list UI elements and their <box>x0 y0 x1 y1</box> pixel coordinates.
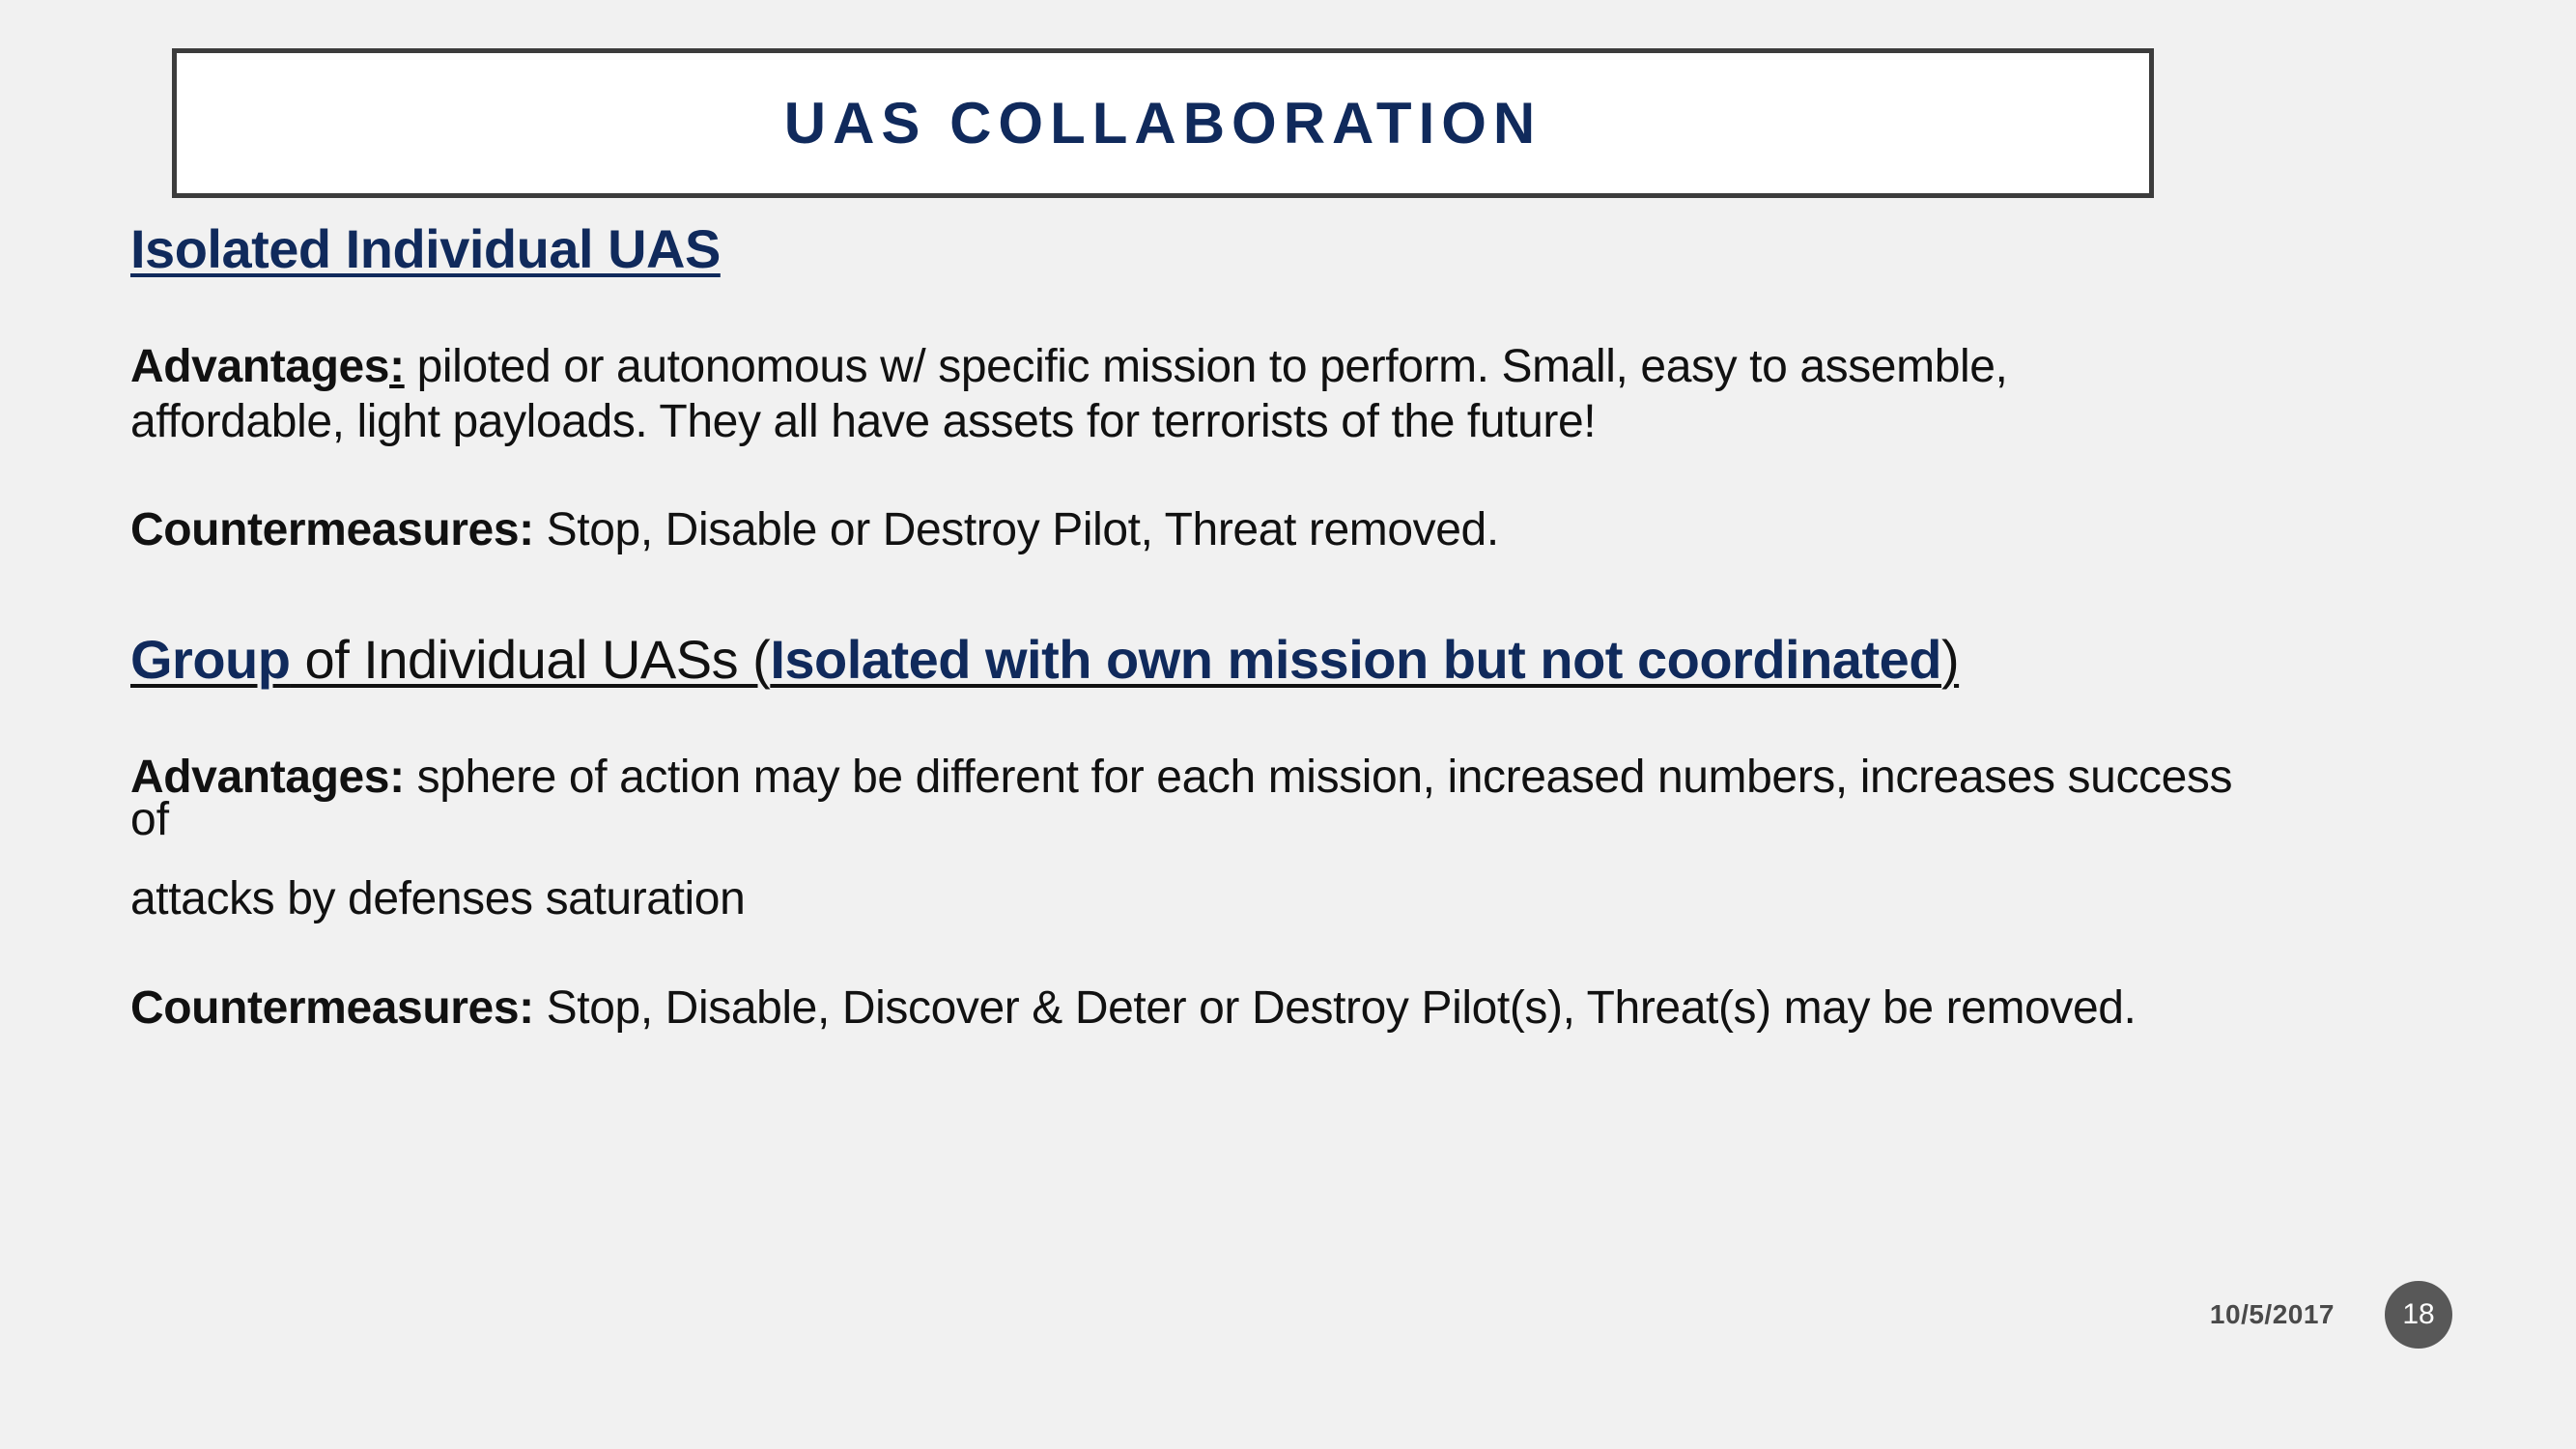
heading-part-group: Group <box>130 629 290 690</box>
heading-part-of-individual: of Individual UASs ( <box>290 629 770 690</box>
spacer <box>130 558 2487 628</box>
slide-number: 18 <box>2402 1298 2434 1331</box>
advantages-group-line2: of <box>130 794 169 845</box>
countermeasures-group-text: Stop, Disable, Discover & Deter or Destr… <box>534 982 2137 1034</box>
paragraph-advantages-group: Advantages: sphere of action may be diff… <box>130 751 2487 806</box>
advantages-line1: piloted or autonomous w/ specific missio… <box>405 341 2008 392</box>
page-title: UAS COLLABORATION <box>784 90 1543 156</box>
countermeasures-label: Countermeasures: <box>130 504 534 555</box>
advantages-group-line2-wrap: of <box>130 806 2487 835</box>
paragraph-advantages-isolated: Advantages: piloted or autonomous w/ spe… <box>130 340 2487 449</box>
advantages-label: Advantages <box>130 341 389 392</box>
advantages-group-line3-wrap: attacks by defenses saturation <box>130 872 2487 927</box>
advantages-group-label: Advantages: <box>130 752 405 803</box>
countermeasures-text: Stop, Disable or Destroy Pilot, Threat r… <box>534 504 1499 555</box>
slide-title-box: UAS COLLABORATION <box>172 48 2154 198</box>
section-heading-isolated-individual-uas: Isolated Individual UAS <box>130 217 2487 280</box>
spacer <box>130 927 2487 981</box>
advantages-group-line3: attacks by defenses saturation <box>130 873 745 924</box>
heading-part-close-paren: ) <box>1941 629 1959 690</box>
spacer <box>130 834 2487 872</box>
footer-date: 10/5/2017 <box>2210 1299 2335 1330</box>
paragraph-countermeasures-group: Countermeasures: Stop, Disable, Discover… <box>130 981 2487 1037</box>
spacer <box>130 449 2487 503</box>
advantages-label-punct: : <box>389 341 405 392</box>
heading-part-isolated-note: Isolated with own mission but not coordi… <box>770 629 1941 690</box>
status-badge: 18 <box>2385 1281 2452 1349</box>
countermeasures-group-label: Countermeasures: <box>130 982 534 1034</box>
spacer <box>130 280 2487 340</box>
slide-body: Isolated Individual UAS Advantages: pilo… <box>130 217 2487 1037</box>
advantages-line2: affordable, light payloads. They all hav… <box>130 396 1596 447</box>
slide-footer: 10/5/2017 18 <box>2210 1281 2452 1349</box>
advantages-group-line1: sphere of action may be different for ea… <box>405 752 2232 803</box>
spacer <box>130 691 2487 751</box>
section-heading-group-of-individual-uass: Group of Individual UASs (Isolated with … <box>130 628 2487 691</box>
paragraph-countermeasures-isolated: Countermeasures: Stop, Disable or Destro… <box>130 503 2487 558</box>
